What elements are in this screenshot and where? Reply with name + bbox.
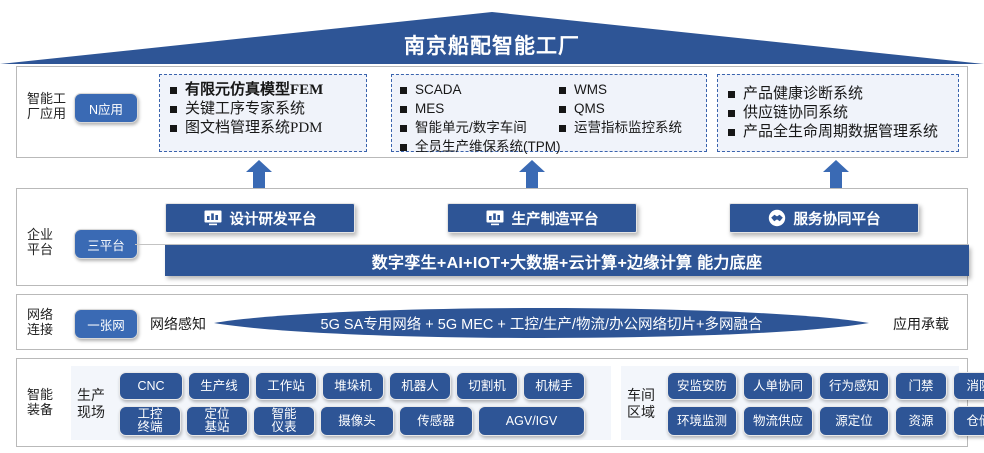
chip-source-positioning[interactable]: 源定位 bbox=[819, 406, 889, 436]
bullet-icon bbox=[728, 129, 735, 136]
app-item: 供应链协同系统 bbox=[728, 104, 938, 122]
row-label-network: 网络 连接 bbox=[27, 307, 71, 337]
monitor-chart-icon bbox=[486, 210, 504, 226]
app-item: 运营指标监控系统 bbox=[559, 119, 682, 137]
chip-access-control[interactable]: 门禁 bbox=[895, 372, 947, 400]
chip-behavior-sensing[interactable]: 行为感知 bbox=[819, 372, 889, 400]
app-list-manufacturing-col1: SCADA MES 智能单元/数字车间 全员生产维保系统(TPM) bbox=[400, 81, 561, 157]
badge-one-network[interactable]: 一张网 bbox=[74, 309, 138, 339]
app-item: 全员生产维保系统(TPM) bbox=[400, 138, 561, 156]
monitor-chart-icon bbox=[204, 210, 222, 226]
platform-chip-label: 生产制造平台 bbox=[512, 208, 599, 229]
platform-chip-design[interactable]: 设计研发平台 bbox=[165, 203, 355, 233]
bullet-icon bbox=[400, 125, 407, 132]
platform-chip-service[interactable]: 服务协同平台 bbox=[729, 203, 919, 233]
app-item: 图文档管理系统PDM bbox=[170, 119, 323, 137]
chip-positioning-base-station[interactable]: 定位 基站 bbox=[186, 406, 248, 436]
page-title: 南京船配智能工厂 bbox=[0, 30, 984, 60]
equipment-group-workshop-area: 车间 区域 安监安防 人单协同 行为感知 门禁 消防 环境监测 物流供应 源定位… bbox=[621, 366, 959, 440]
title-banner: 南京船配智能工厂 bbox=[0, 12, 984, 64]
handshake-icon bbox=[768, 209, 786, 227]
chip-smart-instrument[interactable]: 智能 仪表 bbox=[253, 406, 315, 436]
up-arrow-icon-design bbox=[246, 160, 272, 190]
app-item: 产品全生命周期数据管理系统 bbox=[728, 123, 938, 141]
app-item: QMS bbox=[559, 100, 682, 118]
bullet-icon bbox=[728, 110, 735, 117]
app-item: 智能单元/数字车间 bbox=[400, 119, 561, 137]
chip-robot[interactable]: 机器人 bbox=[389, 372, 451, 400]
app-item: 关键工序专家系统 bbox=[170, 100, 323, 118]
chip-agv-igv[interactable]: AGV/IGV bbox=[478, 406, 585, 436]
bullet-icon bbox=[170, 125, 177, 132]
network-lens-label: 5G SA专用网络 + 5G MEC + 工控/生产/物流/办公网络切片+多网融… bbox=[214, 303, 869, 343]
chip-industrial-control-terminal[interactable]: 工控 终端 bbox=[119, 406, 181, 436]
app-item: SCADA bbox=[400, 81, 561, 99]
up-arrow-icon-service bbox=[823, 160, 849, 190]
chip-cutting-machine[interactable]: 切割机 bbox=[456, 372, 518, 400]
app-box-manufacturing: SCADA MES 智能单元/数字车间 全员生产维保系统(TPM) bbox=[391, 74, 707, 152]
row-smart-factory-applications: 智能工 厂应用 N应用 有限元仿真模型FEM 关键工序专家系统 图文档管理系统P… bbox=[16, 66, 968, 158]
app-box-design: 有限元仿真模型FEM 关键工序专家系统 图文档管理系统PDM bbox=[159, 74, 367, 152]
chip-camera[interactable]: 摄像头 bbox=[320, 406, 394, 436]
bullet-icon bbox=[400, 87, 407, 94]
chip-fire-protection[interactable]: 消防 bbox=[953, 372, 984, 400]
chip-person-order-sync[interactable]: 人单协同 bbox=[743, 372, 813, 400]
app-box-service: 产品健康诊断系统 供应链协同系统 产品全生命周期数据管理系统 bbox=[717, 74, 959, 152]
sublabel-workshop-area: 车间 区域 bbox=[627, 387, 659, 421]
chip-safety-security[interactable]: 安监安防 bbox=[667, 372, 737, 400]
row-label-platform: 企业 平台 bbox=[27, 227, 71, 257]
chip-logistics-supply[interactable]: 物流供应 bbox=[743, 406, 813, 436]
badge-n-applications[interactable]: N应用 bbox=[74, 93, 138, 123]
app-list-design: 有限元仿真模型FEM 关键工序专家系统 图文档管理系统PDM bbox=[170, 81, 323, 138]
chip-workstation[interactable]: 工作站 bbox=[255, 372, 317, 400]
chip-production-line[interactable]: 生产线 bbox=[188, 372, 250, 400]
app-item: WMS bbox=[559, 81, 682, 99]
chip-manipulator[interactable]: 机械手 bbox=[523, 372, 585, 400]
bullet-icon bbox=[559, 106, 566, 113]
platform-chip-label: 服务协同平台 bbox=[794, 208, 881, 229]
bullet-icon bbox=[400, 106, 407, 113]
row-label-application: 智能工 厂应用 bbox=[27, 91, 71, 121]
badge-three-platforms[interactable]: 三平台 bbox=[74, 229, 138, 259]
chip-resource[interactable]: 资源 bbox=[895, 406, 947, 436]
row-smart-equipment: 智能 装备 生产 现场 CNC 生产线 工作站 堆垛机 机器人 切割机 机械手 … bbox=[16, 358, 968, 447]
app-item: 有限元仿真模型FEM bbox=[170, 81, 323, 99]
app-item: 产品健康诊断系统 bbox=[728, 85, 938, 103]
up-arrow-icon-manufacturing bbox=[519, 160, 545, 190]
bullet-icon bbox=[170, 87, 177, 94]
bullet-icon bbox=[559, 87, 566, 94]
platform-chip-label: 设计研发平台 bbox=[230, 208, 317, 229]
row-network-connection: 网络 连接 一张网 网络感知 5G SA专用网络 + 5G MEC + 工控/生… bbox=[16, 294, 968, 350]
chip-cnc[interactable]: CNC bbox=[119, 372, 183, 400]
bullet-icon bbox=[400, 144, 407, 151]
platform-chip-manufacturing[interactable]: 生产制造平台 bbox=[447, 203, 637, 233]
row-enterprise-platform: 企业 平台 三平台 设计研发平台 生产制造平台 bbox=[16, 188, 968, 286]
app-list-service: 产品健康诊断系统 供应链协同系统 产品全生命周期数据管理系统 bbox=[728, 85, 938, 142]
bullet-icon bbox=[728, 91, 735, 98]
diagram-canvas: 南京船配智能工厂 智能工 厂应用 N应用 有限元仿真模型FEM 关键工序专家系统 bbox=[0, 0, 984, 453]
chip-environment-monitoring[interactable]: 环境监测 bbox=[667, 406, 737, 436]
application-carrying-label: 应用承载 bbox=[893, 314, 949, 334]
sublabel-production-site: 生产 现场 bbox=[77, 387, 109, 421]
bullet-icon bbox=[559, 125, 566, 132]
row-label-equipment: 智能 装备 bbox=[27, 387, 71, 417]
chip-stacker[interactable]: 堆垛机 bbox=[322, 372, 384, 400]
network-sensing-label: 网络感知 bbox=[150, 314, 206, 334]
equipment-group-production-site: 生产 现场 CNC 生产线 工作站 堆垛机 机器人 切割机 机械手 工控 终端 … bbox=[71, 366, 611, 440]
bullet-icon bbox=[170, 106, 177, 113]
capability-base-bar: 数字孪生+AI+IOT+大数据+云计算+边缘计算 能力底座 bbox=[165, 245, 969, 276]
app-list-manufacturing-col2: WMS QMS 运营指标监控系统 bbox=[559, 81, 682, 138]
chip-warehousing[interactable]: 仓储 bbox=[953, 406, 984, 436]
app-item: MES bbox=[400, 100, 561, 118]
chip-sensor[interactable]: 传感器 bbox=[399, 406, 473, 436]
